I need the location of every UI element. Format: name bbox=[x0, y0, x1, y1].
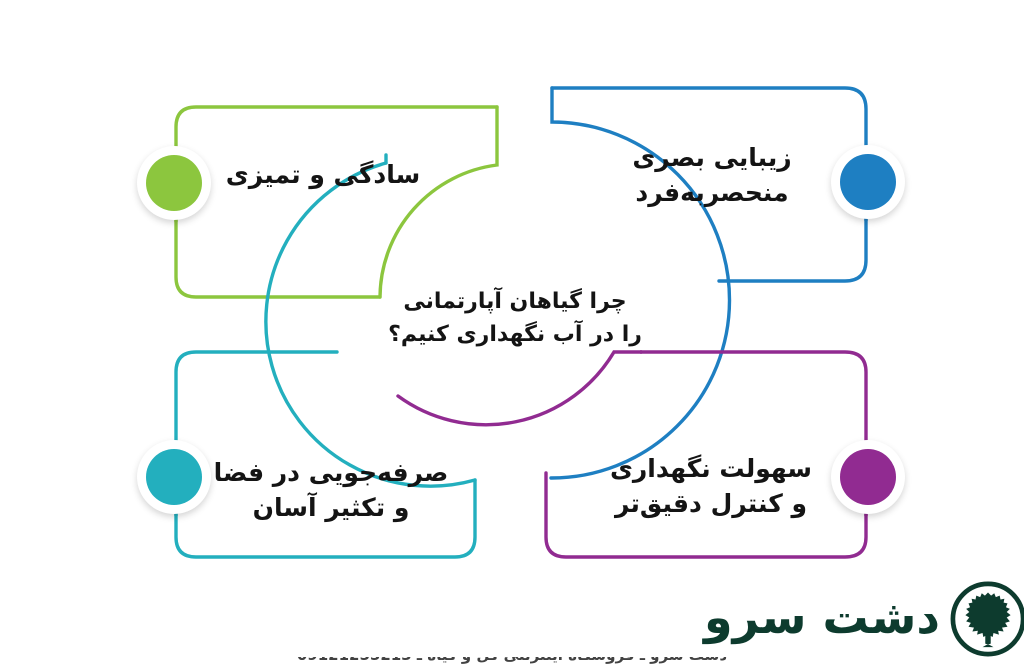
branch-label-bottom-left: صرفه‌جویی در فضا و تکثیر آسان bbox=[205, 456, 457, 525]
branch-dot-purple bbox=[840, 449, 896, 505]
brand-logo: دشت سرو bbox=[704, 576, 1009, 662]
center-question-text: چرا گیاهان آپارتمانی را در آب نگهداری کن… bbox=[372, 285, 658, 351]
branch-dot-blue bbox=[840, 154, 896, 210]
branch-node-top-left[interactable] bbox=[137, 146, 211, 220]
center-arc-purple-main bbox=[398, 352, 641, 425]
branch-node-top-right[interactable] bbox=[831, 145, 905, 219]
branch-label-bottom-right: سهولت نگهداری و کنترل دقیق‌تر bbox=[592, 452, 830, 521]
footer-text: دشت سرو ـ فروشگاه اینترنتی گل و گیاه ـ 0… bbox=[0, 657, 1024, 664]
branch-node-bottom-left[interactable] bbox=[137, 440, 211, 514]
branch-dot-teal bbox=[146, 449, 202, 505]
center-arc-green bbox=[380, 107, 497, 297]
infographic-canvas: سادگی و تمیزی زیبایی بصری منحصربه‌فرد صر… bbox=[0, 0, 1024, 667]
branch-label-top-right: زیبایی بصری منحصربه‌فرد bbox=[596, 141, 828, 210]
branch-node-bottom-right[interactable] bbox=[831, 440, 905, 514]
branch-label-top-left: سادگی و تمیزی bbox=[205, 158, 441, 193]
cypress-tree-in-circle-icon bbox=[949, 580, 1024, 658]
connector-path-top-left bbox=[176, 107, 497, 297]
connector-path-bottom-left bbox=[176, 352, 475, 557]
branch-dot-green bbox=[146, 155, 202, 211]
brand-name-text: دشت سرو bbox=[704, 594, 940, 644]
footer-strip: دشت سرو ـ فروشگاه اینترنتی گل و گیاه ـ 0… bbox=[0, 657, 1024, 667]
